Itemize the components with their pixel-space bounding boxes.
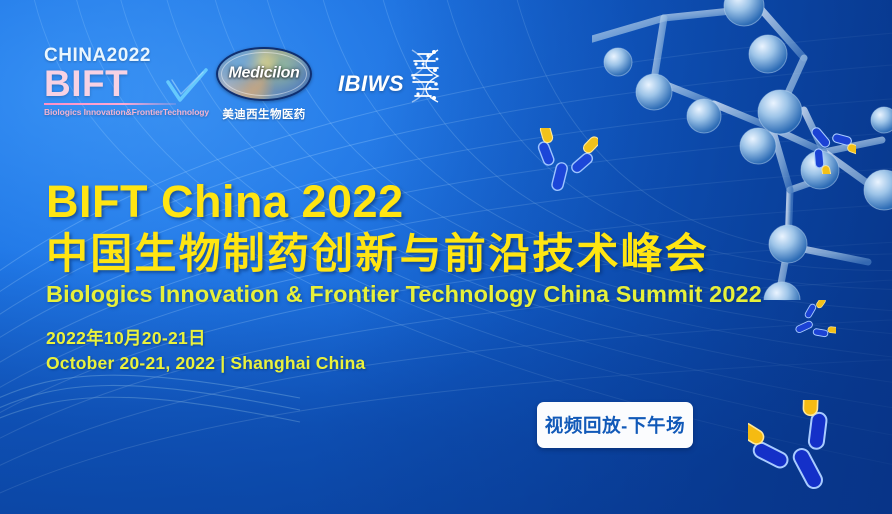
event-banner: CHINA2022 BIFT Biologics Innovation&Fron… — [0, 0, 892, 514]
check-swoosh-icon — [166, 68, 208, 108]
dna-helix-icon — [408, 48, 442, 104]
bift-logo[interactable]: CHINA2022 BIFT Biologics Innovation&Fron… — [44, 46, 190, 117]
ibiws-wordmark: IBIWS — [338, 71, 404, 97]
page-title-chinese: 中国生物制药创新与前沿技术峰会 — [46, 230, 846, 277]
bift-tagline: Biologics Innovation&FrontierTechnology — [44, 108, 190, 117]
medicilon-emblem-icon: Medicilon — [216, 47, 312, 101]
logo-row: CHINA2022 BIFT Biologics Innovation&Fron… — [44, 46, 442, 122]
event-date-chinese: 2022年10月20-21日 — [46, 326, 846, 351]
bift-wordmark-text: BIFT — [44, 63, 128, 104]
bift-wordmark: BIFT — [44, 66, 190, 101]
video-replay-button-label: 视频回放-下午场 — [545, 412, 685, 438]
headline-block: BIFT China 2022 中国生物制药创新与前沿技术峰会 Biologic… — [46, 178, 846, 376]
medicilon-logo[interactable]: Medicilon 美迪西生物医药 — [216, 46, 312, 122]
video-replay-button[interactable]: 视频回放-下午场 — [537, 402, 693, 448]
page-subtitle: Biologics Innovation & Frontier Technolo… — [46, 281, 846, 308]
page-title: BIFT China 2022 — [46, 178, 846, 227]
event-date-english: October 20-21, 2022 | Shanghai China — [46, 351, 846, 376]
medicilon-chinese-name: 美迪西生物医药 — [216, 106, 312, 122]
ibiws-logo[interactable]: IBIWS — [338, 46, 442, 104]
medicilon-wordmark: Medicilon — [218, 65, 310, 83]
event-date-block: 2022年10月20-21日 October 20-21, 2022 | Sha… — [46, 326, 846, 377]
